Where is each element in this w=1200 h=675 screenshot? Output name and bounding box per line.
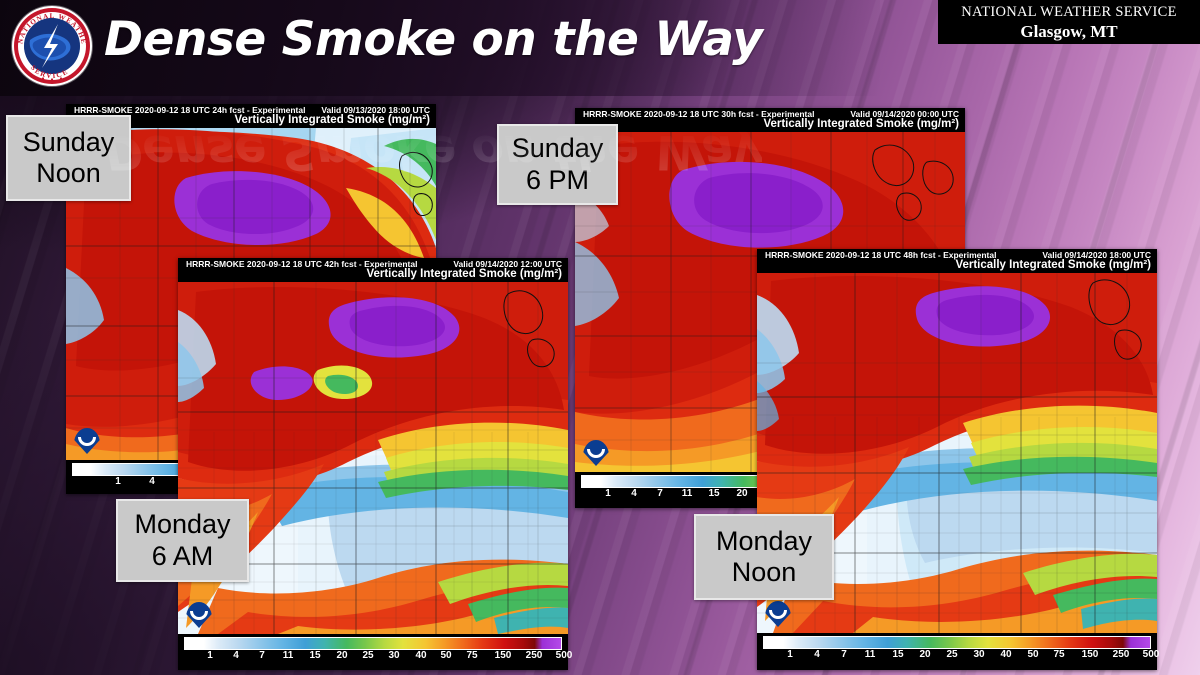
colorbar-tick: 4: [814, 649, 820, 660]
callout-line2: Noon: [732, 557, 797, 588]
callout-line1: Monday: [716, 526, 812, 557]
noaa-logo-icon-24h: [74, 428, 100, 454]
colorbar-tick: 20: [736, 488, 747, 499]
callout-monday-6am[interactable]: Monday 6 AM: [116, 499, 249, 582]
panel-24h-product-line: Vertically Integrated Smoke (mg/m²): [234, 114, 430, 126]
colorbar-tick: 4: [233, 650, 239, 661]
colorbar-tick: 20: [336, 650, 347, 661]
colorbar-tick: 7: [841, 649, 847, 660]
colorbar-ticks-48h: 1 4 7 11 15 20 25 30 40 50 75 150 250 50…: [757, 649, 1157, 663]
panel-42h-colorbar: 1 4 7 11 15 20 25 30 40 50 75 150 250 50…: [178, 634, 568, 670]
nws-seal-icon: NATIONAL WEATHER SERVICE: [12, 6, 92, 86]
colorbar-tick: 40: [415, 650, 426, 661]
slide-canvas: HRRR-SMOKE 2020-09-12 18 UTC 24h fcst - …: [0, 0, 1200, 675]
colorbar-tick: 4: [149, 476, 155, 487]
colorbar-tick: 15: [309, 650, 320, 661]
colorbar-tick: 50: [440, 650, 451, 661]
title-bar: Dense Smoke on the Way Dense Smoke on th…: [0, 0, 880, 96]
panel-48h-header: HRRR-SMOKE 2020-09-12 18 UTC 48h fcst - …: [757, 249, 1157, 273]
callout-line2: 6 AM: [152, 541, 214, 572]
svg-text:SERVICE: SERVICE: [29, 64, 70, 81]
callout-monday-noon[interactable]: Monday Noon: [694, 514, 834, 600]
colorbar-tick: 25: [946, 649, 957, 660]
svg-text:NATIONAL WEATHER: NATIONAL WEATHER: [12, 6, 88, 45]
colorbar-tick: 250: [1113, 649, 1130, 660]
colorbar-tick: 25: [362, 650, 373, 661]
colorbar-tick: 1: [207, 650, 213, 661]
office-banner-line2: Glasgow, MT: [938, 22, 1200, 42]
colorbar-tick: 15: [892, 649, 903, 660]
callout-line1: Sunday: [512, 133, 604, 164]
office-banner-line1: NATIONAL WEATHER SERVICE: [938, 4, 1200, 21]
page-title: Dense Smoke on the Way: [104, 12, 762, 67]
panel-42h-product-line: Vertically Integrated Smoke (mg/m²): [366, 268, 562, 280]
colorbar-tick: 40: [1000, 649, 1011, 660]
colorbar-tick: 1: [787, 649, 793, 660]
colorbar-tick: 7: [259, 650, 265, 661]
callout-line2: 6 PM: [526, 165, 589, 196]
colorbar-gradient-42h: [184, 637, 562, 650]
panel-30h-product-line: Vertically Integrated Smoke (mg/m²): [763, 118, 959, 130]
colorbar-tick: 4: [631, 488, 637, 499]
colorbar-tick: 11: [865, 649, 876, 660]
colorbar-tick: 50: [1027, 649, 1038, 660]
colorbar-tick: 1: [605, 488, 611, 499]
colorbar-tick: 250: [526, 650, 543, 661]
panel-30h-header: HRRR-SMOKE 2020-09-12 18 UTC 30h fcst - …: [575, 108, 965, 132]
colorbar-tick: 11: [682, 488, 693, 499]
panel-48h-colorbar: 1 4 7 11 15 20 25 30 40 50 75 150 250 50…: [757, 633, 1157, 670]
colorbar-tick: 500: [1143, 649, 1160, 660]
colorbar-tick: 30: [973, 649, 984, 660]
panel-42h[interactable]: HRRR-SMOKE 2020-09-12 18 UTC 42h fcst - …: [178, 258, 568, 670]
nws-seal-text-icon: NATIONAL WEATHER SERVICE: [12, 6, 92, 86]
colorbar-tick: 30: [388, 650, 399, 661]
colorbar-tick: 150: [1082, 649, 1099, 660]
callout-line2: Noon: [36, 158, 101, 189]
colorbar-tick: 75: [1053, 649, 1064, 660]
callout-line1: Sunday: [23, 127, 115, 158]
colorbar-tick: 11: [283, 650, 294, 661]
noaa-logo-icon-48h: [765, 601, 791, 627]
noaa-logo-icon-42h: [186, 602, 212, 628]
panel-48h-product-line: Vertically Integrated Smoke (mg/m²): [955, 259, 1151, 271]
colorbar-gradient-48h: [763, 636, 1151, 649]
colorbar-tick: 75: [466, 650, 477, 661]
noaa-logo-icon-30h: [583, 440, 609, 466]
colorbar-tick: 15: [708, 488, 719, 499]
panel-42h-header: HRRR-SMOKE 2020-09-12 18 UTC 42h fcst - …: [178, 258, 568, 282]
office-banner: NATIONAL WEATHER SERVICE Glasgow, MT: [938, 0, 1200, 44]
colorbar-tick: 150: [495, 650, 512, 661]
colorbar-ticks-42h: 1 4 7 11 15 20 25 30 40 50 75 150 250 50…: [178, 650, 568, 664]
colorbar-tick: 500: [556, 650, 573, 661]
colorbar-tick: 7: [657, 488, 663, 499]
panel-48h[interactable]: HRRR-SMOKE 2020-09-12 18 UTC 48h fcst - …: [757, 249, 1157, 670]
callout-sunday-6pm[interactable]: Sunday 6 PM: [497, 124, 618, 205]
colorbar-tick: 20: [919, 649, 930, 660]
callout-sunday-noon[interactable]: Sunday Noon: [6, 115, 131, 201]
colorbar-tick: 1: [115, 476, 121, 487]
callout-line1: Monday: [134, 509, 230, 540]
